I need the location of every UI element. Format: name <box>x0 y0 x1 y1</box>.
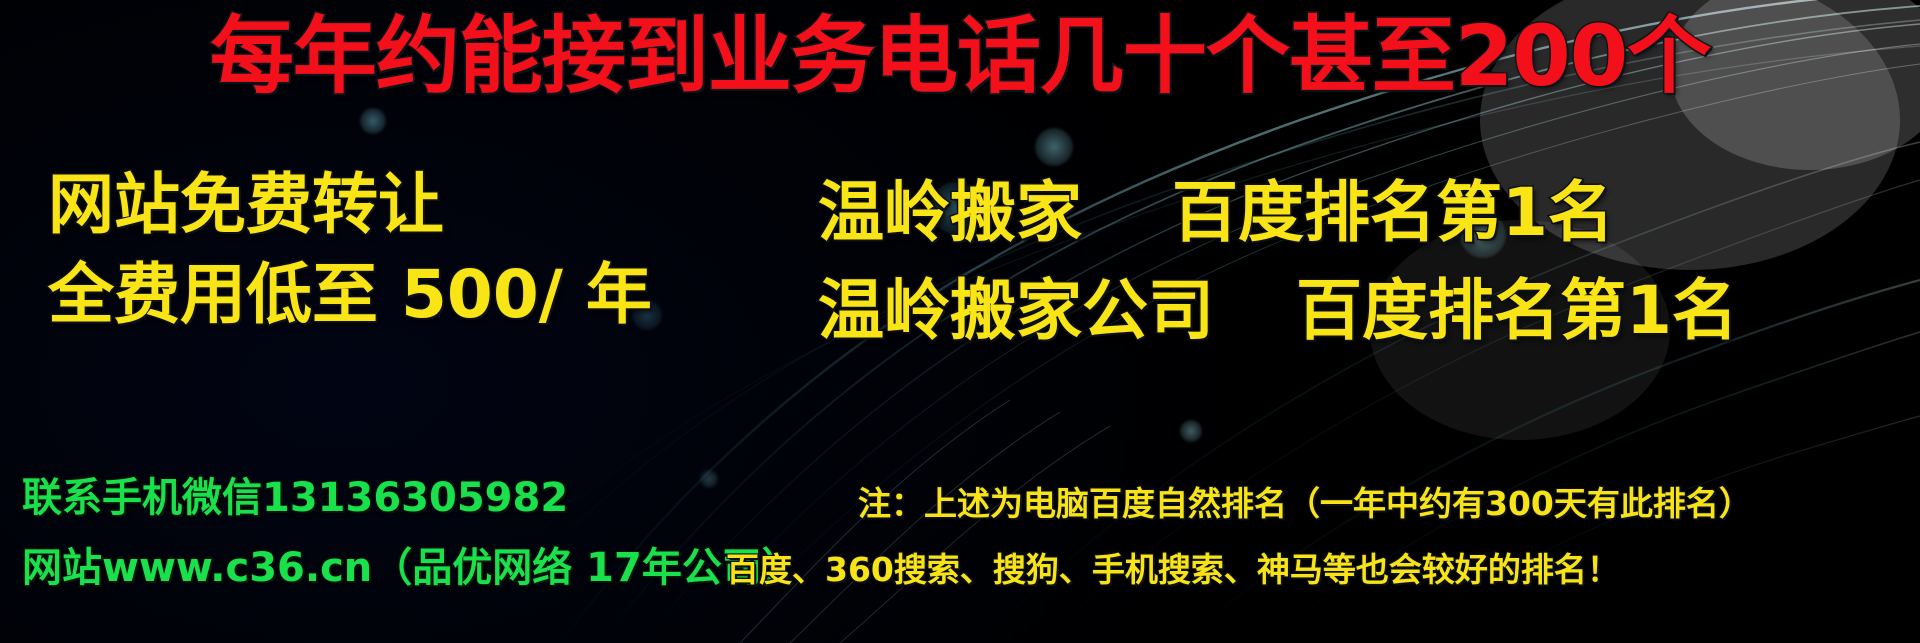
keyword-rank-row-2: 温岭搬家公司 百度排名第1名 <box>818 278 1738 344</box>
contact-website: 网站www.c36.cn（品优网络 17年公司） <box>22 548 802 588</box>
promo-banner: 每年约能接到业务电话几十个甚至200个 网站免费转让 全费用低至 500/ 年 … <box>0 0 1920 643</box>
headline-text: 每年约能接到业务电话几十个甚至200个 <box>0 14 1920 98</box>
keyword-label-1: 温岭搬家 <box>818 174 1082 251</box>
offer-line-price: 全费用低至 500/ 年 <box>48 262 652 328</box>
bokeh-dot-3 <box>1035 128 1073 166</box>
contact-phone-wechat: 联系手机微信13136305982 <box>22 478 568 518</box>
keyword-label-2: 温岭搬家公司 <box>818 272 1214 349</box>
bokeh-dot-7 <box>700 470 718 488</box>
note-search-engines: 百度、360搜索、搜狗、手机搜索、神马等也会较好的排名！ <box>726 553 1620 586</box>
offer-line-transfer: 网站免费转让 <box>48 172 444 238</box>
ranking-label-1: 百度排名第1名 <box>1172 174 1614 251</box>
note-ranking-disclaimer: 注：上述为电脑百度自然排名（一年中约有300天有此排名） <box>858 487 1752 520</box>
bokeh-dot-6 <box>1180 420 1202 442</box>
bokeh-dot-1 <box>360 108 386 134</box>
keyword-rank-row-1: 温岭搬家 百度排名第1名 <box>818 180 1614 246</box>
ranking-label-2: 百度排名第1名 <box>1296 272 1738 349</box>
